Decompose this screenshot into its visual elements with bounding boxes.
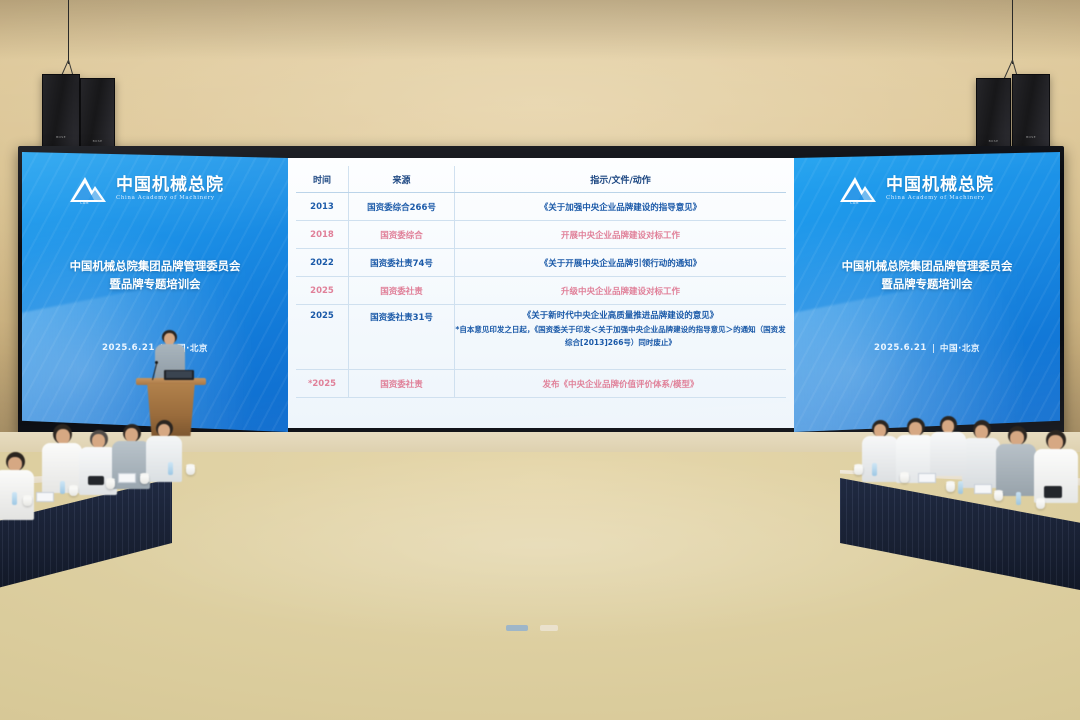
conference-room-photo: BOSE BOSE BOSE BOSE — [0, 0, 1080, 720]
attendee-face — [125, 428, 138, 442]
cell-action: 《关于加强中央企业品牌建设的指导意见》 — [455, 193, 787, 221]
slide-date-right: 2025.6.21 中国·北京 — [794, 342, 1060, 354]
col-header-time: 时间 — [296, 166, 349, 193]
slide-location-value: 中国·北京 — [940, 342, 980, 354]
logo-mark-text: CAM — [850, 201, 859, 205]
cell-action: 《关于开展中央企业品牌引领行动的通知》 — [455, 249, 787, 277]
attendee-face — [975, 425, 988, 439]
cell-source: 国资委综合266号 — [349, 193, 455, 221]
cell-source: 国资委社责 — [349, 277, 455, 305]
mountain-logo-icon: CAM — [838, 174, 880, 204]
rigging-wire — [1012, 0, 1013, 64]
brand-logo-left: CAM 中国机械总院 China Academy of Machinery — [68, 174, 224, 204]
attendee — [930, 416, 970, 482]
attendee-torso — [146, 436, 182, 482]
teacup-icon — [994, 492, 1003, 501]
floor-marks — [506, 625, 576, 633]
col-header-action: 指示/文件/动作 — [455, 166, 787, 193]
speaker-brand-label: BOSE — [989, 139, 999, 143]
water-bottle-icon — [12, 492, 17, 505]
attendee-torso — [996, 444, 1036, 496]
name-plate — [36, 492, 54, 502]
cell-source: 国资委社责31号 — [349, 305, 455, 370]
cell-time: 2022 — [296, 249, 349, 277]
name-plate — [918, 473, 936, 483]
teacup-icon — [23, 497, 32, 506]
attendee — [0, 452, 44, 522]
table-header-row: 时间 来源 指示/文件/动作 — [296, 166, 786, 193]
cell-source: 国资委社责74号 — [349, 249, 455, 277]
cell-time: *2025 — [296, 370, 349, 398]
cell-time: 2018 — [296, 221, 349, 249]
logo-cn-name: 中国机械总院 — [886, 177, 994, 194]
table-row: *2025 国资委社责 发布《中央企业品牌价值评价体系/模型》 — [296, 370, 786, 398]
line-array-speaker-icon: BOSE — [80, 78, 115, 152]
cell-action: 《关于新时代中央企业高质量推进品牌建设的意见》 — [455, 311, 786, 322]
water-bottle-icon — [60, 481, 65, 494]
hanging-speaker-rig-right: BOSE BOSE — [950, 0, 1080, 160]
speaker-brand-label: BOSE — [56, 135, 66, 139]
attendee-face — [56, 429, 70, 444]
laptop-icon — [88, 476, 104, 485]
floor-mark-blue — [506, 625, 528, 631]
slide-title-line2: 暨品牌专题培训会 — [794, 276, 1060, 294]
cell-action: 开展中央企业品牌建设对标工作 — [455, 221, 787, 249]
teacup-icon — [186, 466, 195, 475]
attendee-face — [8, 457, 22, 471]
teacup-icon — [854, 466, 863, 475]
line-array-speaker-icon: BOSE — [1012, 74, 1050, 148]
cell-time: 2025 — [296, 277, 349, 305]
logo-en-name: China Academy of Machinery — [116, 196, 224, 201]
attendee-face — [92, 434, 105, 448]
line-array-speaker-icon: BOSE — [42, 74, 80, 148]
cell-action-group: 《关于新时代中央企业高质量推进品牌建设的意见》 *自本意见印发之日起，《国资委关… — [455, 305, 787, 370]
attendee-torso — [930, 432, 966, 476]
attendee — [146, 420, 186, 490]
table-row: 2013 国资委综合266号 《关于加强中央企业品牌建设的指导意见》 — [296, 193, 786, 221]
led-panel-right: CAM 中国机械总院 China Academy of Machinery 中国… — [794, 152, 1060, 432]
led-panel-center: 时间 来源 指示/文件/动作 2013 国资委综合266号 《关于加强中央企业品… — [288, 158, 794, 428]
rigging-wire — [68, 0, 69, 64]
cell-time: 2025 — [296, 305, 349, 370]
date-separator — [933, 344, 934, 353]
cell-source: 国资委社责 — [349, 370, 455, 398]
cell-time: 2013 — [296, 193, 349, 221]
slide-title-line1: 中国机械总院集团品牌管理委员会 — [794, 258, 1060, 276]
slide-date-value: 2025.6.21 — [874, 343, 927, 353]
cell-action: 升级中央企业品牌建设对标工作 — [455, 277, 787, 305]
logo-mark-text: CAM — [80, 201, 89, 205]
attendee-face — [1048, 435, 1063, 450]
hanging-speaker-rig-left: BOSE BOSE — [20, 0, 150, 160]
line-array-speaker-icon: BOSE — [976, 78, 1011, 152]
brand-logo-right: CAM 中国机械总院 China Academy of Machinery — [838, 174, 994, 204]
podium-laptop-screen — [166, 371, 192, 378]
slide-title-right: 中国机械总院集团品牌管理委员会 暨品牌专题培训会 — [794, 258, 1060, 293]
water-bottle-icon — [958, 481, 963, 494]
cell-action-note: *自本意见印发之日起，《国资委关于印发＜关于加强中央企业品牌建设的指导意见＞的通… — [455, 324, 786, 350]
slide-title-line2: 暨品牌专题培训会 — [22, 276, 288, 294]
speaker-brand-label: BOSE — [1026, 135, 1036, 139]
slide-title-left: 中国机械总院集团品牌管理委员会 暨品牌专题培训会 — [22, 258, 288, 293]
laptop-icon — [1044, 486, 1062, 498]
water-bottle-icon — [168, 462, 173, 475]
col-header-source: 来源 — [349, 166, 455, 193]
floor-mark-white — [540, 625, 558, 631]
speaker-brand-label: BOSE — [93, 139, 103, 143]
name-plate — [118, 473, 136, 483]
attendee-face — [909, 422, 922, 436]
table-row: 2025 国资委社责 升级中央企业品牌建设对标工作 — [296, 277, 786, 305]
water-bottle-icon — [872, 463, 877, 476]
table-head: 时间 来源 指示/文件/动作 — [296, 166, 786, 193]
teacup-icon — [69, 487, 78, 496]
attendee-torso — [862, 436, 898, 482]
cell-source: 国资委综合 — [349, 221, 455, 249]
logo-cn-name: 中国机械总院 — [116, 177, 224, 194]
teacup-icon — [106, 480, 115, 489]
table-row: 2022 国资委社责74号 《关于开展中央企业品牌引领行动的通知》 — [296, 249, 786, 277]
mountain-logo-icon: CAM — [68, 174, 110, 204]
attendee-face — [1010, 431, 1024, 445]
table-row: 2025 国资委社责31号 《关于新时代中央企业高质量推进品牌建设的意见》 *自… — [296, 305, 786, 370]
teacup-icon — [946, 483, 955, 492]
name-plate — [974, 484, 992, 494]
logo-en-name: China Academy of Machinery — [886, 196, 994, 201]
table-row: 2018 国资委综合 开展中央企业品牌建设对标工作 — [296, 221, 786, 249]
teacup-icon — [900, 474, 909, 483]
microphone-head-icon — [155, 361, 158, 364]
water-bottle-icon — [1016, 492, 1021, 505]
cell-action: 发布《中央企业品牌价值评价体系/模型》 — [455, 370, 787, 398]
slide-title-line1: 中国机械总院集团品牌管理委员会 — [22, 258, 288, 276]
teacup-icon — [1036, 500, 1045, 509]
teacup-icon — [140, 475, 149, 484]
table-body: 2013 国资委综合266号 《关于加强中央企业品牌建设的指导意见》 2018 … — [296, 193, 786, 398]
policy-timeline-table: 时间 来源 指示/文件/动作 2013 国资委综合266号 《关于加强中央企业品… — [296, 166, 786, 398]
